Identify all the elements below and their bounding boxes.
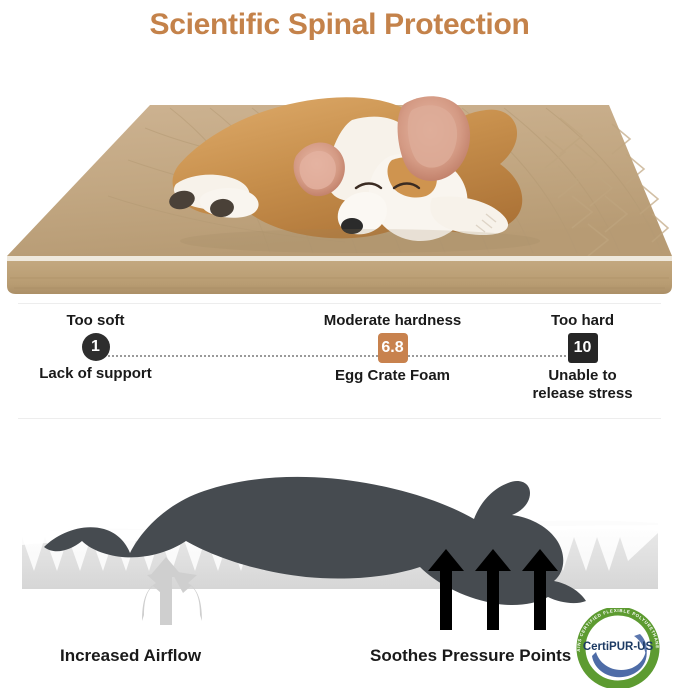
scale-node-bottom-label-line2: release stress <box>495 385 670 403</box>
hero-illustration <box>7 96 672 294</box>
scale-badge-10: 10 <box>568 333 598 363</box>
hardness-scale: Too soft 1 Lack of support Moderate hard… <box>0 312 679 412</box>
scale-node-top-label: Too soft <box>8 312 183 329</box>
scale-node-moderate: Moderate hardness 6.8 Egg Crate Foam <box>305 312 480 384</box>
infographic-page: Scientific Spinal Protection <box>0 0 679 691</box>
page-title: Scientific Spinal Protection <box>149 8 529 42</box>
certipur-us-badge: CONTAINS CERTIFIED FLEXIBLE POLYURETHANE… <box>570 608 666 688</box>
badge-brand-text: CertiPUR-US <box>583 641 654 653</box>
hero-product-photo <box>0 48 679 298</box>
page-title-bar: Scientific Spinal Protection <box>0 0 679 50</box>
caption-increased-airflow: Increased Airflow <box>60 646 201 666</box>
scale-node-top-label: Moderate hardness <box>305 312 480 329</box>
divider-bottom <box>18 418 661 419</box>
caption-soothes-pressure-points: Soothes Pressure Points <box>370 646 571 666</box>
scale-node-bottom-label: Lack of support <box>8 365 183 382</box>
scale-badge-6-8: 6.8 <box>378 333 408 363</box>
scale-node-too-hard: Too hard 10 Unable to release stress <box>495 312 670 403</box>
scale-node-bottom-label: Egg Crate Foam <box>305 367 480 384</box>
scale-badge-1: 1 <box>82 333 110 361</box>
pressure-arrows <box>428 549 558 630</box>
scale-node-top-label: Too hard <box>495 312 670 329</box>
divider-top <box>18 303 661 304</box>
scale-node-too-soft: Too soft 1 Lack of support <box>8 312 183 382</box>
scale-node-bottom-label-line1: Unable to <box>495 367 670 385</box>
